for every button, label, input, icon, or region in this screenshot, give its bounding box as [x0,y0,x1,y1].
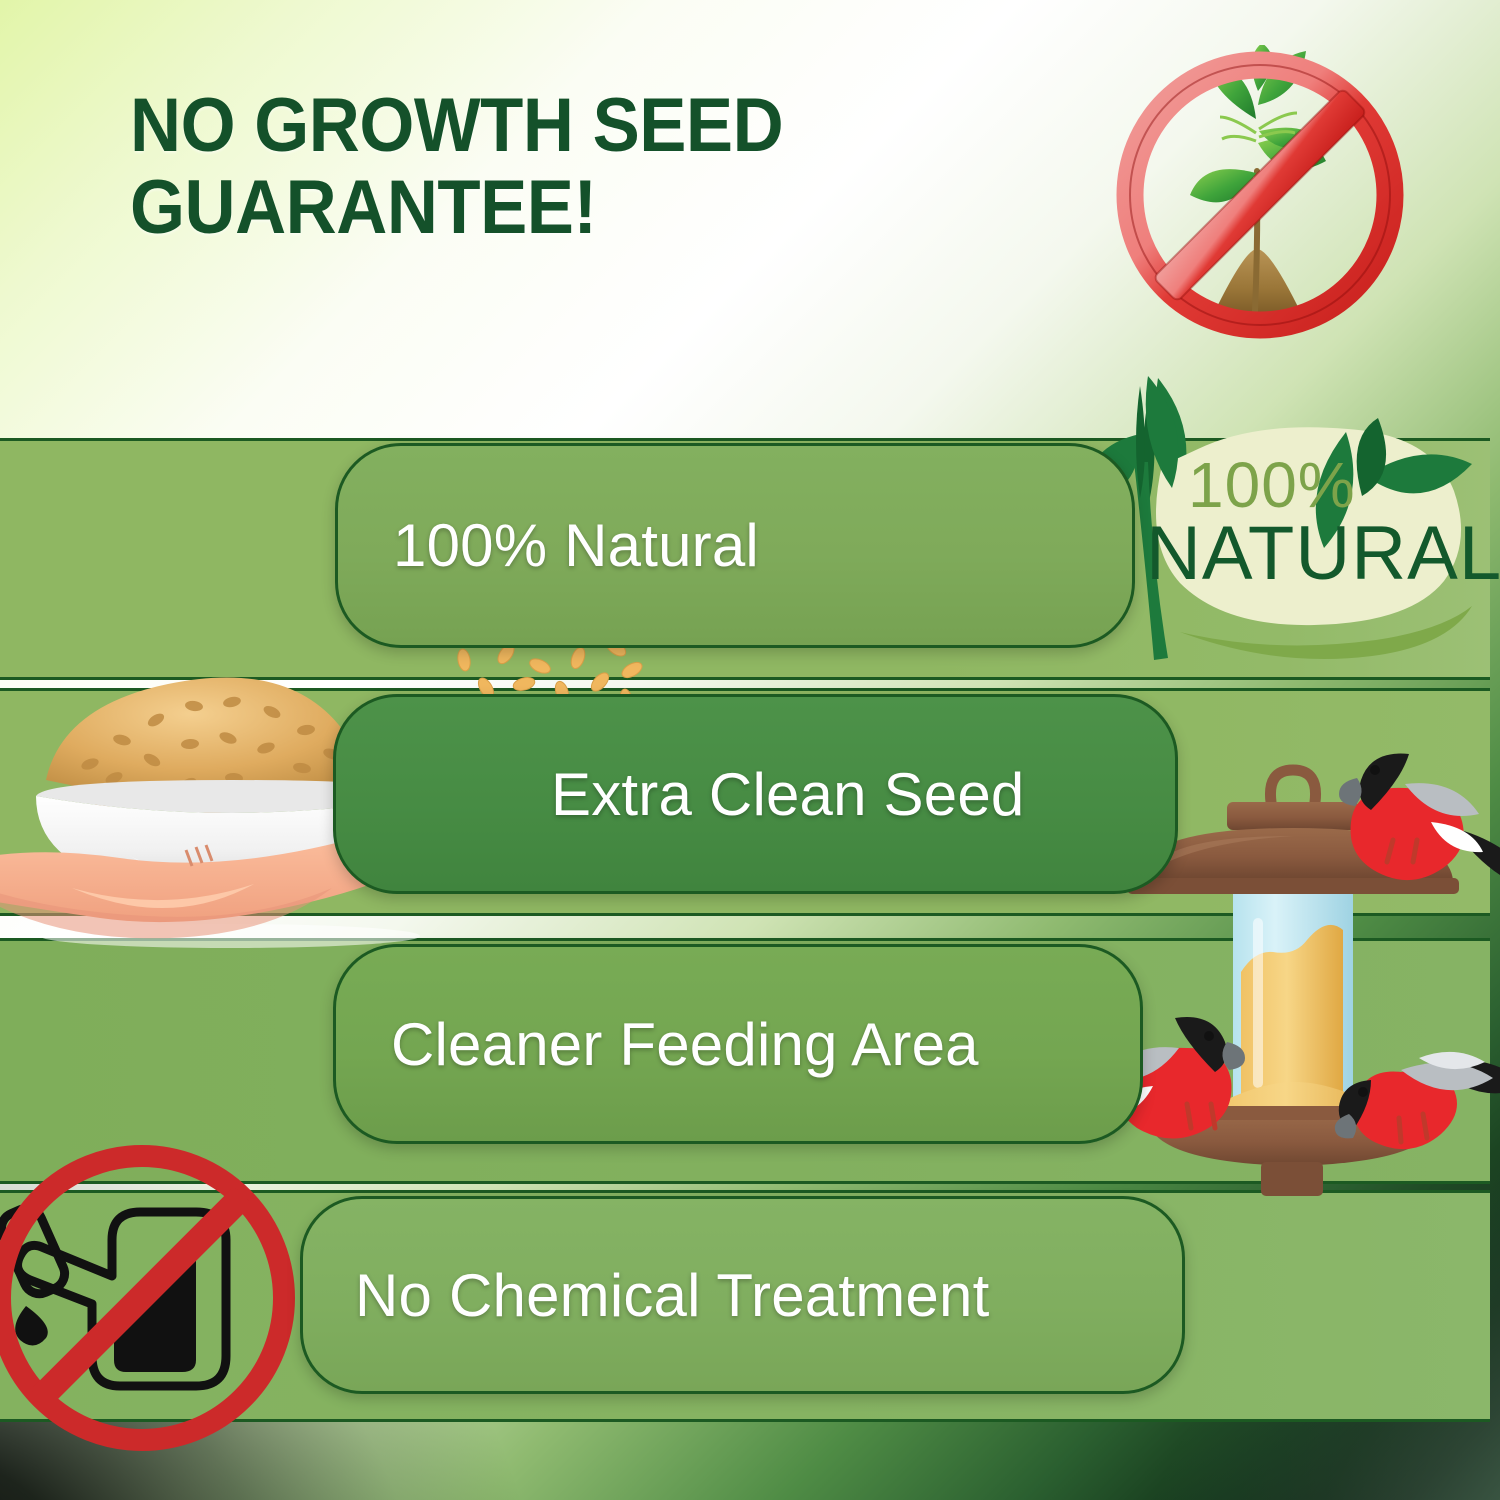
feature-pill-3[interactable]: Cleaner Feeding Area [333,944,1143,1144]
feature-label-3: Cleaner Feeding Area [391,1010,979,1079]
badge-word: NATURAL [1146,510,1500,597]
feature-pill-4[interactable]: No Chemical Treatment [300,1196,1185,1394]
page-title: NO GROWTH SEED GUARANTEE! [130,85,967,249]
no-plant-growth-icon [1095,45,1425,345]
page-title-line-1: NO GROWTH SEED [130,85,967,167]
feature-label-4: No Chemical Treatment [355,1261,989,1330]
page-title-line-2: GUARANTEE! [130,167,967,249]
feature-label-2: Extra Clean Seed [551,760,1024,829]
feature-label-1: 100% Natural [393,511,759,580]
feature-pill-2[interactable]: Extra Clean Seed [333,694,1178,894]
infographic-canvas: NO GROWTH SEED GUARANTEE! [0,0,1500,1500]
no-chemical-treatment-icon [0,1138,312,1468]
feature-pill-1[interactable]: 100% Natural [335,443,1135,648]
